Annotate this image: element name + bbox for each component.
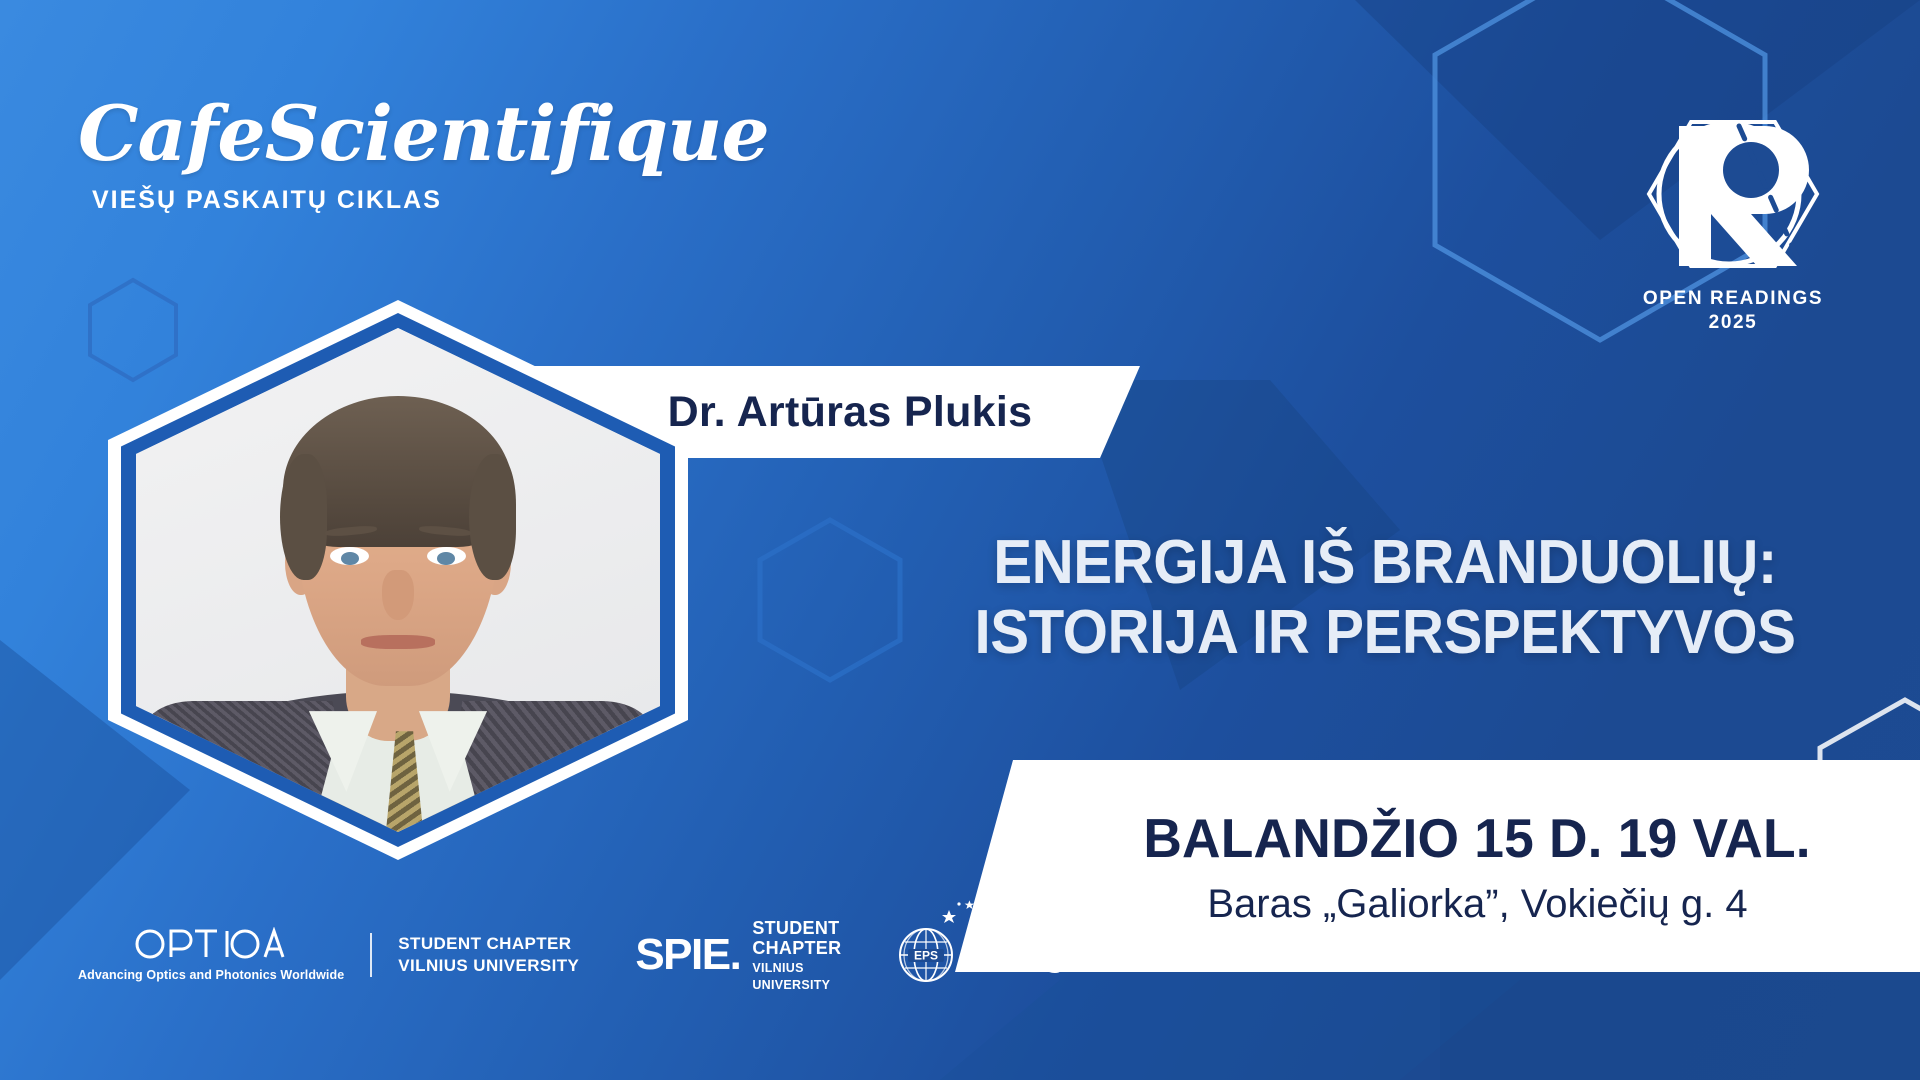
event-poster: CafeScientifique VIEŠŲ PASKAITŲ CIKLAS O…: [0, 0, 1920, 1080]
optica-tagline: Advancing Optics and Photonics Worldwide: [78, 968, 344, 982]
sponsor-logos: Advancing Optics and Photonics Worldwide…: [78, 918, 1177, 992]
event-date: BALANDŽIO 15 D. 19 VAL.: [1144, 806, 1811, 870]
lecture-title: ENERGIJA IŠ BRANDUOLIŲ: ISTORIJA IR PERS…: [910, 528, 1859, 668]
open-readings-r-mark-icon: [1633, 104, 1833, 284]
spie-wordmark: SPIE.: [635, 933, 740, 977]
brand-subtitle: VIEŠŲ PASKAITŲ CIKLAS: [92, 186, 638, 215]
speaker-portrait: [108, 300, 688, 860]
lecture-title-line-1: ENERGIJA IŠ BRANDUOLIŲ:: [910, 528, 1859, 598]
brand-wordmark: CafeScientifique: [78, 96, 638, 172]
spie-uni-line-2: UNIVERSITY: [752, 978, 841, 992]
bg-band-bottom-mid: [940, 980, 1520, 1080]
eps-globe-label: EPS: [914, 948, 938, 962]
event-venue: Baras „Galiorka”, Vokiečių g. 4: [1207, 882, 1747, 927]
spie-chapter-line-1: STUDENT: [752, 918, 841, 938]
optica-divider: [370, 933, 372, 977]
optica-logo: Advancing Optics and Photonics Worldwide…: [78, 927, 579, 982]
open-readings-logo: OPEN READINGS 2025: [1618, 104, 1848, 334]
open-readings-year: 2025: [1618, 312, 1848, 334]
spie-chapter-line-2: CHAPTER: [752, 938, 841, 958]
eps-young-minds-logo: EPS Young Minds: [897, 926, 1176, 984]
open-readings-name: OPEN READINGS: [1618, 288, 1848, 310]
young-minds-stars-icon: [939, 894, 1129, 946]
spie-logo: SPIE. STUDENT CHAPTER VILNIUS UNIVERSITY: [635, 918, 841, 992]
bg-band-bottom-right: [1440, 980, 1920, 1080]
optica-chapter-line-2: VILNIUS UNIVERSITY: [398, 955, 579, 977]
spie-uni-line-1: VILNIUS: [752, 961, 841, 975]
brand-logo: CafeScientifique VIEŠŲ PASKAITŲ CIKLAS: [78, 96, 638, 215]
hexagon-outline-mid-left: [760, 520, 900, 680]
optica-chapter-text: STUDENT CHAPTER VILNIUS UNIVERSITY: [398, 933, 579, 977]
lecture-title-line-2: ISTORIJA IR PERSPEKTYVOS: [910, 598, 1859, 668]
speaker-name: Dr. Artūras Plukis: [668, 388, 1033, 437]
optica-chapter-line-1: STUDENT CHAPTER: [398, 933, 579, 955]
optica-wordmark-icon: [135, 927, 287, 961]
